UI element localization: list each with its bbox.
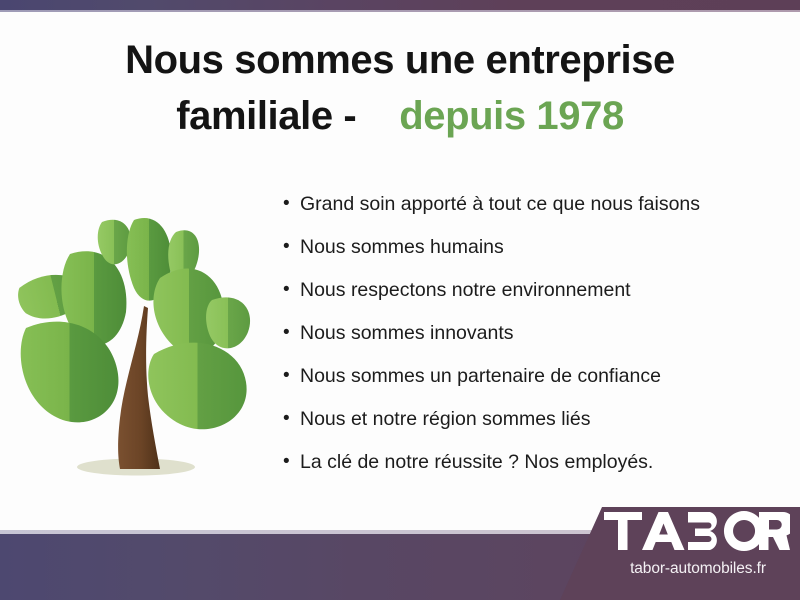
list-item: • Nous sommes humains — [283, 233, 783, 276]
title-line-1: Nous sommes une entreprise — [0, 32, 800, 88]
list-item-label: La clé de notre réussite ? Nos employés. — [300, 448, 653, 476]
logo-url-label: tabor-automobiles.fr — [604, 560, 792, 578]
list-item: • La clé de notre réussite ? Nos employé… — [283, 448, 783, 491]
list-item-label: Nous respectons notre environnement — [300, 276, 631, 304]
title-line-2-accent: depuis 1978 — [399, 94, 624, 138]
value-list: • Grand soin apporté à tout ce que nous … — [283, 190, 783, 491]
list-item: • Nous et notre région sommes liés — [283, 405, 783, 448]
list-item: • Grand soin apporté à tout ce que nous … — [283, 190, 783, 233]
title-line-2: familiale - depuis 1978 — [0, 88, 800, 144]
list-item-label: Nous sommes humains — [300, 233, 504, 261]
bullet-marker-icon: • — [283, 405, 300, 433]
list-item-label: Nous sommes un partenaire de confiance — [300, 362, 661, 390]
list-item: • Nous respectons notre environnement — [283, 276, 783, 319]
top-accent-band — [0, 0, 800, 10]
slide-canvas: Nous sommes une entreprise familiale - d… — [0, 0, 800, 600]
top-accent-hairline — [0, 10, 800, 12]
list-item-label: Grand soin apporté à tout ce que nous fa… — [300, 190, 700, 218]
list-item: • Nous sommes un partenaire de confiance — [283, 362, 783, 405]
bullet-marker-icon: • — [283, 448, 300, 476]
bullet-marker-icon: • — [283, 362, 300, 390]
bullet-marker-icon: • — [283, 276, 300, 304]
tree-illustration — [8, 186, 270, 486]
bullet-marker-icon: • — [283, 319, 300, 347]
page-title: Nous sommes une entreprise familiale - d… — [0, 32, 800, 144]
bullet-marker-icon: • — [283, 233, 300, 261]
list-item-label: Nous sommes innovants — [300, 319, 514, 347]
list-item: • Nous sommes innovants — [283, 319, 783, 362]
bullet-marker-icon: • — [283, 190, 300, 218]
tabor-logo-wordmark — [604, 511, 790, 551]
list-item-label: Nous et notre région sommes liés — [300, 405, 590, 433]
title-line-2-main: familiale - — [176, 94, 356, 138]
